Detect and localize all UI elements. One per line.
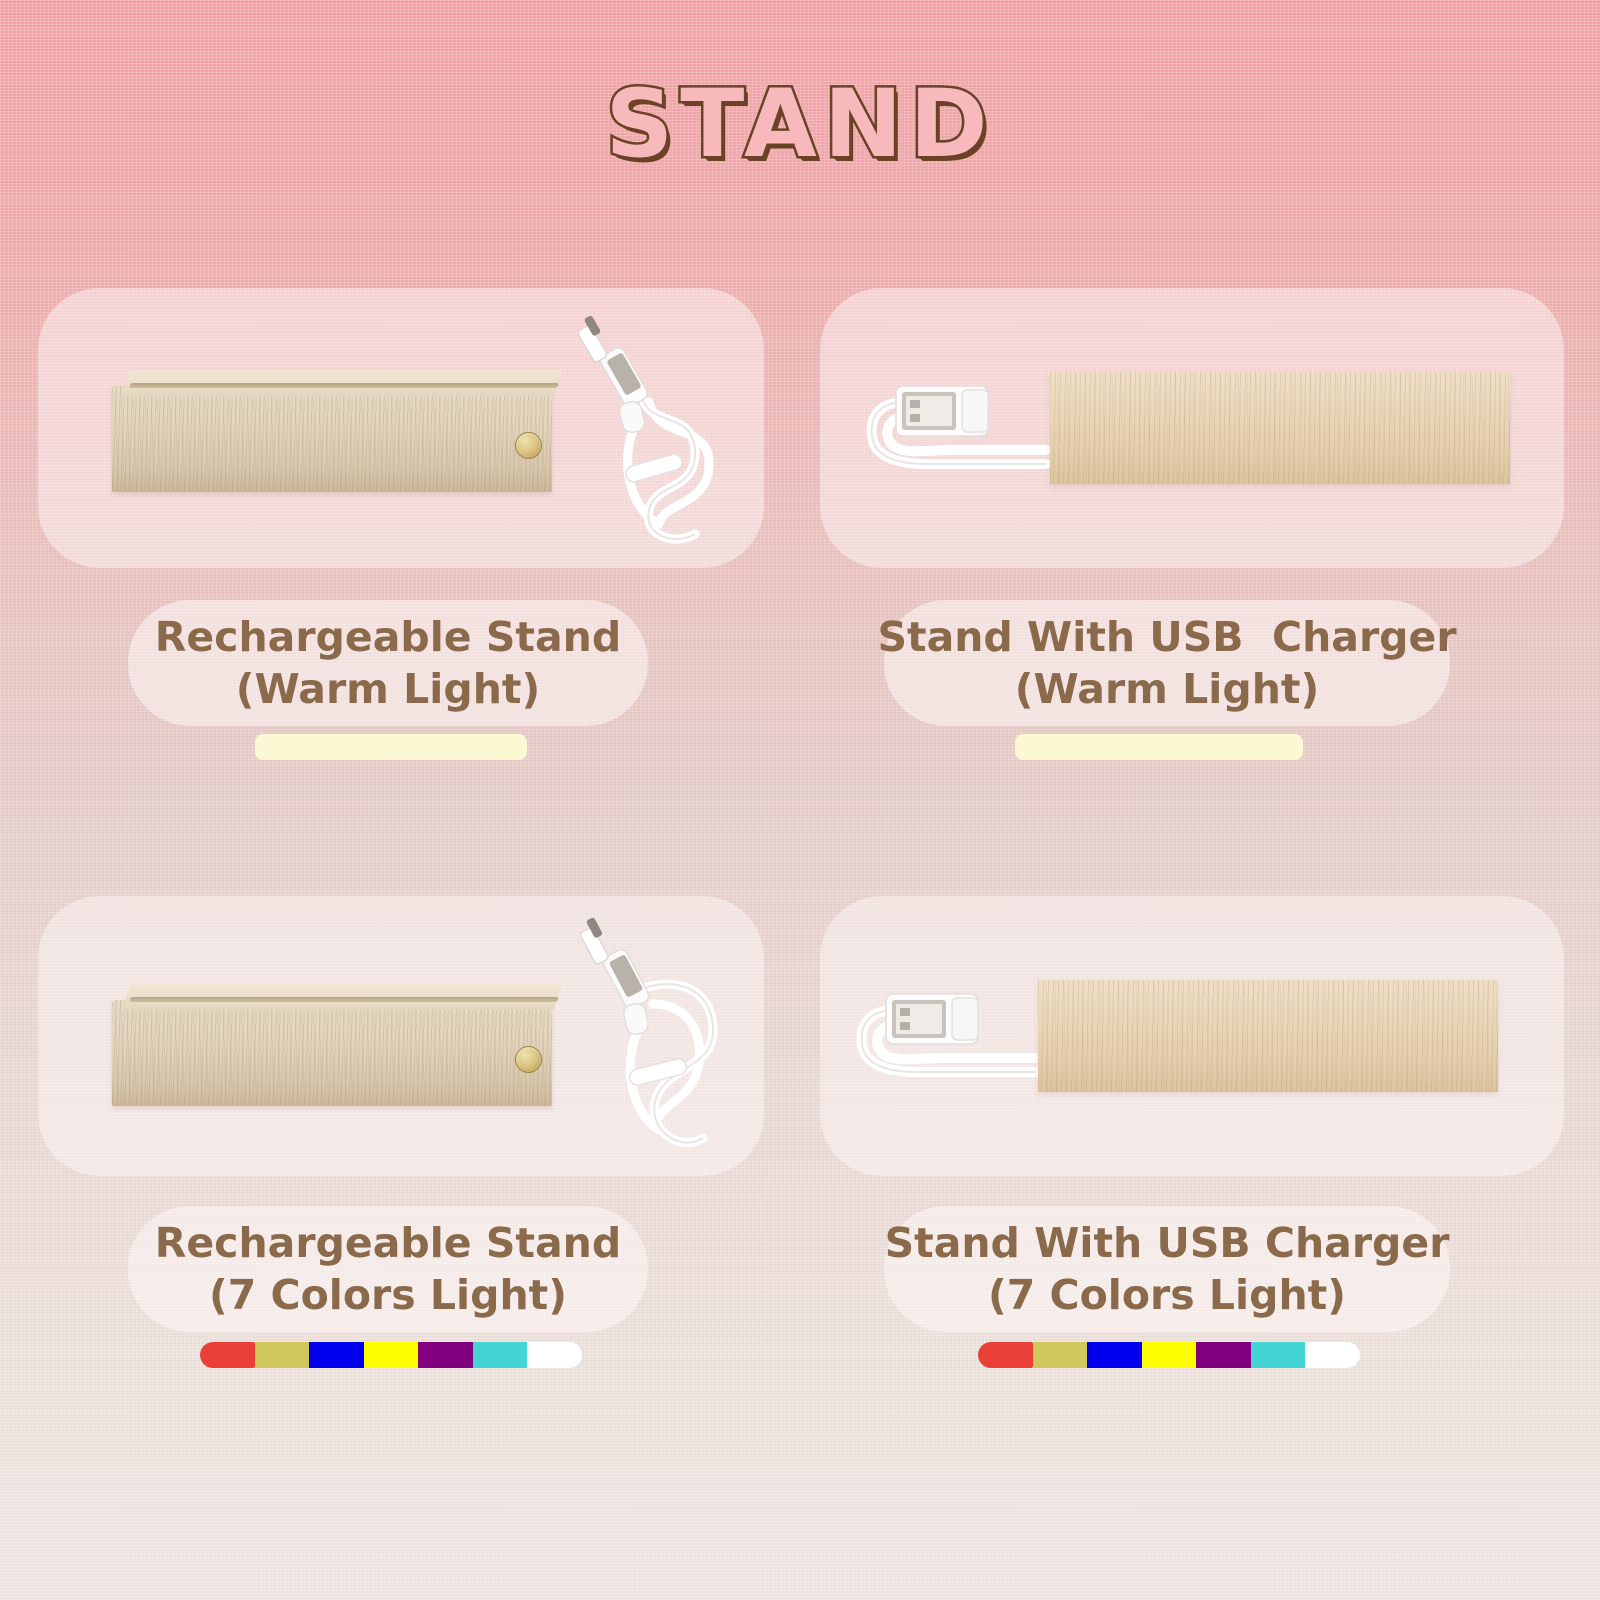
seven-colors-swatch — [200, 1342, 582, 1368]
stand-wood-body — [112, 1000, 552, 1106]
stand-power-button-icon[interactable] — [515, 1046, 542, 1073]
color-swatch-turquoise — [473, 1342, 528, 1368]
product-card-usb-charger-warm[interactable] — [820, 288, 1564, 568]
color-swatch-turquoise — [1251, 1342, 1306, 1368]
wooden-stand-with-button — [112, 364, 574, 500]
product-label-line1: Stand With USB Charger — [885, 1217, 1450, 1269]
color-swatch-purple — [1196, 1342, 1251, 1368]
product-label-line1: Rechargeable Stand — [155, 1217, 621, 1269]
product-card-rechargeable-warm[interactable] — [38, 288, 764, 568]
color-swatch-blue — [1087, 1342, 1142, 1368]
stand-wood-block — [1050, 372, 1510, 484]
page-title: STAND — [0, 78, 1600, 172]
color-swatch-yellow — [364, 1342, 419, 1368]
product-label-line2: (Warm Light) — [236, 663, 540, 715]
white-charging-cable — [563, 916, 753, 1166]
stand-acrylic-groove — [129, 997, 559, 1002]
color-swatch-blue — [309, 1342, 364, 1368]
attached-usb-cable — [850, 380, 1050, 492]
product-card-rechargeable-7colors[interactable] — [38, 896, 764, 1176]
product-label-rechargeable-warm: Rechargeable Stand (Warm Light) — [128, 600, 648, 726]
product-options-infographic: STAND — [0, 0, 1600, 1600]
color-swatch-white — [1305, 1342, 1360, 1368]
color-swatch-red — [200, 1342, 255, 1368]
seven-colors-swatch — [978, 1342, 1360, 1368]
wooden-block-stand — [1038, 980, 1498, 1092]
product-label-usb-charger-7colors: Stand With USB Charger (7 Colors Light) — [884, 1206, 1450, 1332]
product-card-usb-charger-7colors[interactable] — [820, 896, 1564, 1176]
product-label-line2: (7 Colors Light) — [209, 1269, 567, 1321]
product-label-rechargeable-7colors: Rechargeable Stand (7 Colors Light) — [128, 1206, 648, 1332]
product-label-line1: Stand With USB Charger — [877, 611, 1456, 663]
warm-light-swatch — [255, 734, 527, 760]
stand-acrylic-groove — [129, 383, 559, 388]
color-swatch-olive-yellow — [1033, 1342, 1088, 1368]
stand-wood-body — [112, 386, 552, 492]
product-label-line2: (Warm Light) — [1015, 663, 1319, 715]
product-label-line2: (7 Colors Light) — [988, 1269, 1346, 1321]
color-swatch-red — [978, 1342, 1033, 1368]
wooden-block-stand — [1050, 372, 1510, 484]
color-swatch-yellow — [1142, 1342, 1197, 1368]
product-label-usb-charger-warm: Stand With USB Charger (Warm Light) — [884, 600, 1450, 726]
product-label-line1: Rechargeable Stand — [155, 611, 621, 663]
color-swatch-white — [527, 1342, 582, 1368]
stand-wood-block — [1038, 980, 1498, 1092]
stand-power-button-icon[interactable] — [515, 432, 542, 459]
attached-usb-cable — [840, 988, 1040, 1100]
wooden-stand-with-button — [112, 978, 574, 1114]
color-swatch-olive-yellow — [255, 1342, 310, 1368]
warm-light-swatch — [1015, 734, 1303, 760]
color-swatch-purple — [418, 1342, 473, 1368]
white-charging-cable — [563, 310, 743, 560]
